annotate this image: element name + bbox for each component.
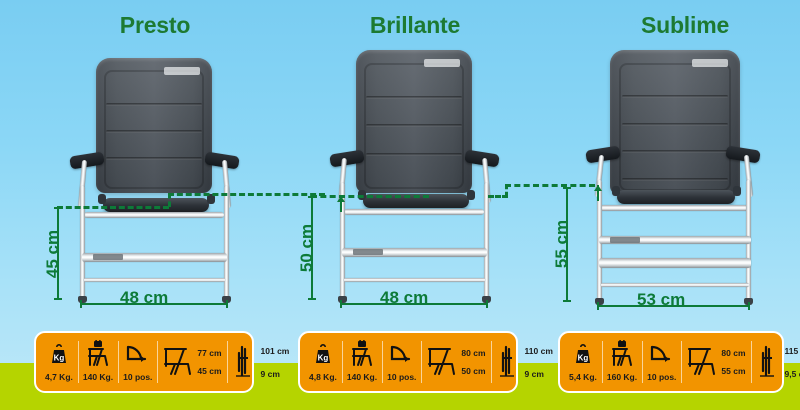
weight-kg-icon: Kg bbox=[572, 338, 594, 369]
seat-height-label-brillante: 50 cm bbox=[297, 218, 317, 278]
seat-hinge-left-sublime bbox=[612, 186, 620, 196]
svg-text:Kg: Kg bbox=[54, 353, 65, 362]
product-title-presto: Presto bbox=[60, 12, 250, 39]
backrest-seam bbox=[366, 124, 461, 127]
backrest-seam bbox=[622, 178, 729, 181]
spec-seat-height-brillante: 50 cm bbox=[461, 366, 485, 376]
spec-panel-sublime: Kg 5,4 Kg. 160 Kg. bbox=[558, 331, 784, 393]
frame-logo-presto bbox=[93, 254, 123, 260]
frame-logo-brillante bbox=[353, 249, 383, 255]
spec-dimensions-sublime: 80 cm 55 cm bbox=[681, 336, 750, 388]
level-arrow-sublime bbox=[597, 185, 599, 201]
spec-back-height-sublime: 80 cm bbox=[721, 348, 745, 358]
weight-kg-icon: Kg bbox=[48, 338, 70, 369]
spec-weight-value-presto: 4,7 Kg. bbox=[45, 372, 73, 382]
level-line-presto bbox=[57, 206, 169, 209]
recline-positions-icon bbox=[649, 338, 675, 369]
spec-positions-value-brillante: 10 pos. bbox=[387, 372, 416, 382]
level-line-step-2 bbox=[505, 184, 595, 187]
level-line-brillante bbox=[311, 195, 429, 198]
spec-folded-sublime: 115 cm 9,5 cm bbox=[751, 336, 800, 388]
spec-back-height-presto: 77 cm bbox=[197, 348, 221, 358]
spec-maxload-value-sublime: 160 Kg. bbox=[607, 372, 637, 382]
width-label-presto: 48 cm bbox=[120, 288, 168, 308]
spec-positions-sublime: 10 pos. bbox=[642, 336, 681, 388]
max-load-chair-icon bbox=[85, 338, 111, 369]
seat-hinge-right-sublime bbox=[733, 186, 741, 196]
seat-pad-sublime bbox=[617, 190, 735, 204]
width-label-sublime: 53 cm bbox=[637, 290, 685, 310]
backrest-seam bbox=[622, 95, 729, 98]
spec-positions-presto: 10 pos. bbox=[118, 336, 157, 388]
spec-folded-height-sublime: 115 cm bbox=[785, 346, 800, 356]
backrest-presto bbox=[96, 58, 212, 193]
backrest-seam bbox=[622, 150, 729, 153]
spec-maxload-presto: 140 Kg. bbox=[78, 336, 118, 388]
seat-hinge-left-presto bbox=[98, 194, 106, 204]
folded-chair-dimensions-icon bbox=[496, 347, 520, 378]
chair-side-dimensions-icon bbox=[686, 347, 716, 378]
product-comparison-graphic: Presto Brillante Sublime 45 cm 48 cm bbox=[0, 0, 800, 410]
spec-weight-brillante: Kg 4,8 Kg. bbox=[304, 336, 342, 388]
spec-panel-brillante: Kg 4,8 Kg. 140 Kg. bbox=[298, 331, 518, 393]
frame-logo-sublime bbox=[610, 237, 640, 243]
recline-positions-icon bbox=[125, 338, 151, 369]
backrest-sublime bbox=[610, 50, 740, 195]
spec-panel-presto: Kg 4,7 Kg. 140 Kg. bbox=[34, 331, 254, 393]
spec-maxload-value-presto: 140 Kg. bbox=[83, 372, 113, 382]
spec-folded-height-brillante: 110 cm bbox=[525, 346, 553, 356]
backrest-seam bbox=[106, 157, 201, 160]
cross-tube-brillante bbox=[344, 209, 484, 215]
product-title-sublime: Sublime bbox=[590, 12, 780, 39]
backrest-brillante bbox=[356, 50, 472, 193]
backrest-seam bbox=[106, 130, 201, 133]
svg-text:Kg: Kg bbox=[318, 353, 329, 362]
brand-logo-presto bbox=[164, 67, 200, 75]
backrest-seam bbox=[366, 153, 461, 156]
brand-logo-brillante bbox=[424, 59, 460, 67]
bottom-brace-presto bbox=[84, 278, 225, 282]
level-line-step-1 bbox=[168, 193, 325, 196]
level-arrow-brillante bbox=[340, 196, 342, 212]
spec-seat-height-presto: 45 cm bbox=[197, 366, 221, 376]
max-load-chair-icon bbox=[349, 338, 375, 369]
spec-folded-thickness-presto: 9 cm bbox=[261, 369, 290, 379]
bottom-brace-brillante bbox=[344, 278, 485, 282]
cross-tube-sublime bbox=[600, 205, 750, 211]
svg-text:Kg: Kg bbox=[578, 353, 589, 362]
weight-kg-icon: Kg bbox=[312, 338, 334, 369]
spec-weight-presto: Kg 4,7 Kg. bbox=[40, 336, 78, 388]
product-title-brillante: Brillante bbox=[320, 12, 510, 39]
level-line-bridge-2 bbox=[488, 195, 508, 198]
recline-positions-icon bbox=[389, 338, 415, 369]
seat-height-label-sublime: 55 cm bbox=[552, 214, 572, 274]
seat-pad-presto bbox=[103, 198, 209, 212]
spec-positions-value-presto: 10 pos. bbox=[123, 372, 152, 382]
spec-positions-brillante: 10 pos. bbox=[382, 336, 421, 388]
backrest-seam bbox=[622, 123, 729, 126]
folded-chair-dimensions-icon bbox=[232, 347, 256, 378]
cross-tube-presto bbox=[84, 212, 224, 218]
backrest-seam bbox=[106, 103, 201, 106]
spec-dimensions-presto: 77 cm 45 cm bbox=[157, 336, 226, 388]
lower-brace-sublime bbox=[599, 258, 751, 268]
spec-seat-height-sublime: 55 cm bbox=[721, 366, 745, 376]
spec-folded-thickness-brillante: 9 cm bbox=[525, 369, 553, 379]
front-leg-right-presto bbox=[224, 186, 229, 298]
spec-maxload-value-brillante: 140 Kg. bbox=[347, 372, 377, 382]
folded-chair-dimensions-icon bbox=[756, 347, 780, 378]
chair-side-dimensions-icon bbox=[426, 347, 456, 378]
spec-folded-thickness-sublime: 9,5 cm bbox=[785, 369, 800, 379]
max-load-chair-icon bbox=[609, 338, 635, 369]
chair-side-dimensions-icon bbox=[162, 347, 192, 378]
spec-weight-value-brillante: 4,8 Kg. bbox=[309, 372, 337, 382]
spec-weight-sublime: Kg 5,4 Kg. bbox=[564, 336, 602, 388]
bottom-brace-sublime bbox=[601, 283, 749, 287]
spec-back-height-brillante: 80 cm bbox=[461, 348, 485, 358]
spec-folded-presto: 101 cm 9 cm bbox=[227, 336, 295, 388]
seat-hinge-right-brillante bbox=[467, 190, 475, 200]
spec-folded-height-presto: 101 cm bbox=[261, 346, 290, 356]
spec-maxload-brillante: 140 Kg. bbox=[342, 336, 382, 388]
spec-weight-value-sublime: 5,4 Kg. bbox=[569, 372, 597, 382]
backrest-seam bbox=[366, 96, 461, 99]
spec-dimensions-brillante: 80 cm 50 cm bbox=[421, 336, 490, 388]
seat-height-label-presto: 45 cm bbox=[43, 224, 63, 284]
width-label-brillante: 48 cm bbox=[380, 288, 428, 308]
spec-maxload-sublime: 160 Kg. bbox=[602, 336, 642, 388]
brand-logo-sublime bbox=[692, 59, 728, 67]
spec-folded-brillante: 110 cm 9 cm bbox=[491, 336, 558, 388]
spec-positions-value-sublime: 10 pos. bbox=[647, 372, 676, 382]
